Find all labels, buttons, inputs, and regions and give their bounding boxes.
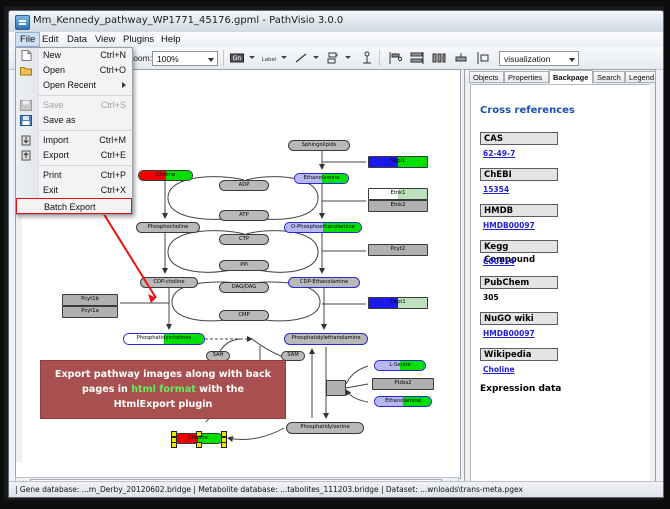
menu-data[interactable]: Data	[63, 33, 91, 46]
cross-reference-list: CAS62-49-7ChEBI15354HMDBHMDB00097Kegg Co…	[480, 132, 640, 374]
xref-db-pubchem: PubChem	[480, 276, 558, 289]
group-tool[interactable]	[453, 50, 469, 66]
menu-item-label: Open Recent	[43, 78, 96, 93]
xref-entry: CAS62-49-7	[480, 132, 640, 158]
title-bar: Mm_Kennedy_pathway_WP1771_45176.gpml - P…	[9, 11, 663, 33]
xref-entry: ChEBI15354	[480, 168, 640, 194]
menu-item-accelerator: Ctrl+P	[101, 168, 126, 183]
line-tool[interactable]	[293, 50, 309, 66]
xref-db-kegg-compound: Kegg Compound	[480, 240, 558, 253]
svg-text:Label: Label	[262, 57, 277, 63]
cross-references-title: Cross references	[480, 105, 640, 116]
xref-db-wikipedia: Wikipedia	[480, 348, 558, 361]
submenu-arrow-icon	[122, 82, 126, 88]
menu-item-save-as[interactable]: Save as	[16, 113, 132, 128]
xref-value-chebi[interactable]: 15354	[483, 185, 640, 194]
label-dropdown-icon[interactable]	[281, 56, 287, 59]
save-as-icon	[20, 115, 32, 126]
menu-item-label: Export	[43, 148, 69, 163]
visualization-value: visualization	[504, 54, 550, 64]
xref-entry: Kegg CompoundC00114	[480, 240, 640, 266]
side-panel: Objects Properties Backpage Search Legen…	[464, 69, 656, 488]
menu-item-label: Save	[43, 98, 64, 113]
menu-item-accelerator: Ctrl+X	[101, 183, 126, 198]
pathvisio-app-icon	[15, 15, 30, 30]
zoom-value: 100%	[157, 54, 179, 64]
xref-value-kegg-compound[interactable]: C00114	[483, 257, 640, 266]
menu-item-accelerator: Ctrl+E	[101, 148, 126, 163]
anchor-tool[interactable]	[359, 50, 375, 66]
xref-entry: NuGO wikiHMDB00097	[480, 312, 640, 338]
xref-entry: HMDBHMDB00097	[480, 204, 640, 230]
tab-properties[interactable]: Properties	[504, 71, 549, 83]
zoom-combo[interactable]: 100%	[152, 51, 218, 66]
tab-backpage[interactable]: Backpage	[549, 70, 593, 84]
menu-item-open-recent[interactable]: Open Recent	[16, 78, 132, 93]
callout-line2-post: with the	[196, 384, 244, 395]
xref-entry: WikipediaCholine	[480, 348, 640, 374]
align-left-tool[interactable]	[387, 50, 403, 66]
menu-item-label: Save as	[43, 113, 76, 128]
menu-item-label: Import	[43, 133, 69, 148]
menu-item-label: Open	[43, 63, 65, 78]
menu-item-print[interactable]: PrintCtrl+P	[16, 168, 132, 183]
side-panel-tabs: Objects Properties Backpage Search Legen…	[465, 70, 655, 84]
tab-search[interactable]: Search	[593, 71, 625, 83]
label-tool[interactable]: Label	[261, 50, 277, 66]
distribute-tool[interactable]	[431, 50, 447, 66]
menu-item-save: SaveCtrl+S	[16, 98, 132, 113]
menu-separator	[38, 95, 132, 96]
menu-view[interactable]: View	[91, 33, 119, 46]
xref-value-wikipedia[interactable]: Choline	[483, 365, 640, 374]
menu-help[interactable]: Help	[157, 33, 185, 46]
menu-item-label: New	[43, 48, 61, 63]
new-document-icon	[20, 50, 32, 61]
screenshot-frame: Mm_Kennedy_pathway_WP1771_45176.gpml - P…	[0, 0, 670, 509]
tab-legend[interactable]: Legend	[625, 71, 656, 83]
chevron-down-icon	[569, 58, 575, 62]
side-panel-scrollbar[interactable]	[650, 84, 654, 488]
xref-value-hmdb[interactable]: HMDB00097	[483, 221, 640, 230]
xref-db-nugo-wiki: NuGO wiki	[480, 312, 558, 325]
order-tool[interactable]	[475, 50, 491, 66]
callout-line3: HtmlExport plugin	[114, 399, 213, 410]
import-icon	[20, 135, 32, 146]
expression-data-title: Expression data	[480, 384, 640, 394]
status-text: | Gene database: ...m_Derby_20120602.bri…	[15, 485, 523, 494]
menu-item-exit[interactable]: ExitCtrl+X	[16, 183, 132, 198]
menu-item-accelerator: Ctrl+S	[101, 98, 126, 113]
callout-line2-pre: pages in	[82, 384, 131, 395]
visualization-combo[interactable]: visualization	[499, 51, 579, 66]
menu-item-accelerator: Ctrl+M	[99, 133, 126, 148]
menu-separator	[38, 165, 132, 166]
menu-item-batch-export[interactable]: Batch Export	[16, 198, 132, 214]
file-menu-items: NewCtrl+NOpenCtrl+OOpen RecentSaveCtrl+S…	[16, 48, 132, 198]
save-disk-icon	[20, 100, 32, 111]
menu-separator	[38, 130, 132, 131]
chevron-down-icon	[208, 58, 214, 62]
export-icon	[20, 150, 32, 161]
gene-product-dropdown-icon[interactable]	[249, 56, 255, 59]
open-folder-icon	[20, 65, 32, 76]
menu-edit[interactable]: Edit	[38, 33, 62, 46]
menu-item-label: Exit	[43, 183, 58, 198]
receptor-tool[interactable]	[325, 50, 341, 66]
menu-item-label: Batch Export	[44, 199, 96, 215]
file-menu-popup[interactable]: NewCtrl+NOpenCtrl+OOpen RecentSaveCtrl+S…	[15, 47, 133, 215]
line-dropdown-icon[interactable]	[313, 56, 319, 59]
xref-db-chebi: ChEBI	[480, 168, 558, 181]
xref-entry: PubChem305	[480, 276, 640, 302]
tab-objects[interactable]: Objects	[469, 71, 504, 83]
xref-value-pubchem: 305	[483, 293, 640, 302]
xref-value-nugo-wiki[interactable]: HMDB00097	[483, 329, 640, 338]
menu-item-accelerator: Ctrl+O	[100, 63, 126, 78]
backpage-content[interactable]: Cross references CAS62-49-7ChEBI15354HMD…	[470, 84, 652, 488]
svg-text:Gn: Gn	[233, 55, 242, 62]
pathvisio-window: Mm_Kennedy_pathway_WP1771_45176.gpml - P…	[8, 10, 664, 498]
toolbar-separator	[379, 50, 380, 66]
menu-plugins[interactable]: Plugins	[119, 33, 158, 46]
align-stack-tool[interactable]	[409, 50, 425, 66]
gene-product-tool[interactable]: Gn	[229, 50, 245, 66]
menu-bar: File Edit Data View Plugins Help	[9, 32, 663, 48]
receptor-dropdown-icon[interactable]	[345, 56, 351, 59]
xref-db-cas: CAS	[480, 132, 558, 145]
menu-item-label: Print	[43, 168, 62, 183]
xref-value-cas[interactable]: 62-49-7	[483, 149, 640, 158]
menu-item-import[interactable]: ImportCtrl+M	[16, 133, 132, 148]
status-bar: | Gene database: ...m_Derby_20120602.bri…	[9, 481, 663, 497]
menu-item-new[interactable]: NewCtrl+N	[16, 48, 132, 63]
callout-line2-highlight: html format	[131, 384, 196, 395]
xref-db-hmdb: HMDB	[480, 204, 558, 217]
menu-file[interactable]: File	[15, 32, 40, 47]
menu-item-export[interactable]: ExportCtrl+E	[16, 148, 132, 163]
annotation-callout: Export pathway images along with back pa…	[40, 360, 286, 419]
menu-item-open[interactable]: OpenCtrl+O	[16, 63, 132, 78]
menu-item-accelerator: Ctrl+N	[100, 48, 126, 63]
callout-line1: Export pathway images along with back	[55, 369, 271, 380]
toolbar-separator	[223, 50, 224, 66]
window-title: Mm_Kennedy_pathway_WP1771_45176.gpml - P…	[33, 15, 343, 26]
